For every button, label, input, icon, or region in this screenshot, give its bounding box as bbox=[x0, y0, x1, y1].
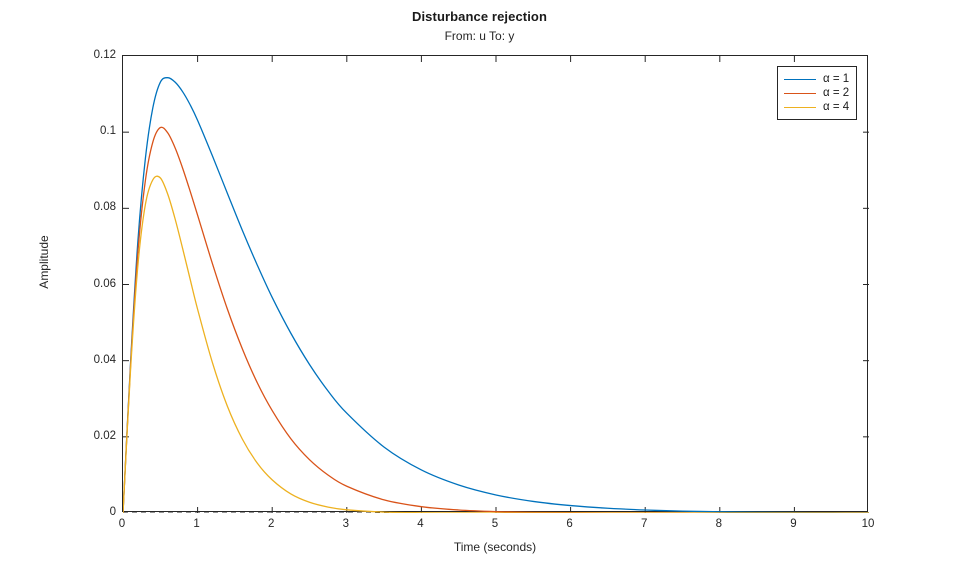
y-tick-label: 0.12 bbox=[70, 49, 116, 61]
series-line bbox=[123, 176, 869, 513]
legend-item-label: α = 2 bbox=[823, 87, 849, 99]
legend-item[interactable]: α = 1 bbox=[784, 72, 849, 86]
legend-color-swatch bbox=[784, 107, 816, 108]
y-tick-label: 0.02 bbox=[70, 430, 116, 442]
page-title: Disturbance rejection bbox=[0, 9, 959, 24]
x-tick-label: 0 bbox=[102, 518, 142, 530]
x-tick-label: 3 bbox=[326, 518, 366, 530]
legend-item[interactable]: α = 4 bbox=[784, 100, 849, 114]
plot-svg bbox=[123, 56, 869, 513]
legend-color-swatch bbox=[784, 79, 816, 80]
legend-item-label: α = 4 bbox=[823, 101, 849, 113]
x-tick-label: 5 bbox=[475, 518, 515, 530]
y-axis-label: Amplitude bbox=[37, 182, 51, 342]
plot-area bbox=[122, 55, 868, 512]
y-tick-label: 0.04 bbox=[70, 354, 116, 366]
series-line bbox=[123, 127, 869, 513]
x-axis-tick-labels: 012345678910 bbox=[122, 518, 868, 534]
chart-subtitle: From: u To: y bbox=[0, 29, 959, 43]
y-tick-label: 0 bbox=[70, 506, 116, 518]
y-tick-label: 0.1 bbox=[70, 125, 116, 137]
x-tick-label: 7 bbox=[624, 518, 664, 530]
x-tick-label: 9 bbox=[773, 518, 813, 530]
x-tick-label: 8 bbox=[699, 518, 739, 530]
y-tick-label: 0.08 bbox=[70, 201, 116, 213]
series-line bbox=[123, 78, 869, 513]
figure-canvas: Disturbance rejection From: u To: y Ampl… bbox=[0, 0, 959, 577]
legend-item[interactable]: α = 2 bbox=[784, 86, 849, 100]
x-axis-label: Time (seconds) bbox=[122, 540, 868, 554]
legend-item-label: α = 1 bbox=[823, 73, 849, 85]
x-tick-label: 6 bbox=[550, 518, 590, 530]
y-tick-label: 0.06 bbox=[70, 278, 116, 290]
x-tick-label: 2 bbox=[251, 518, 291, 530]
x-tick-label: 4 bbox=[400, 518, 440, 530]
legend-color-swatch bbox=[784, 93, 816, 94]
x-tick-label: 1 bbox=[177, 518, 217, 530]
x-tick-label: 10 bbox=[848, 518, 888, 530]
y-axis-tick-labels: 00.020.040.060.080.10.12 bbox=[64, 55, 116, 512]
legend[interactable]: α = 1α = 2α = 4 bbox=[777, 66, 857, 120]
